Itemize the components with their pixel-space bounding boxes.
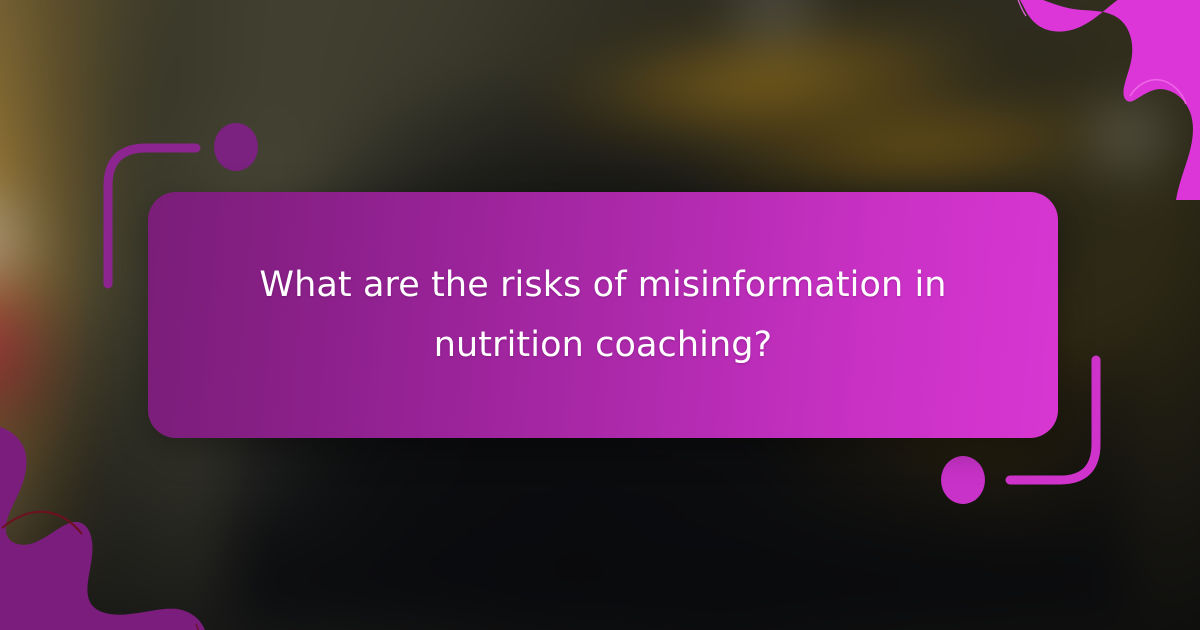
question-text: What are the risks of misinformation in … — [204, 255, 1002, 375]
og-image-canvas: What are the risks of misinformation in … — [0, 0, 1200, 630]
question-card: What are the risks of misinformation in … — [148, 192, 1058, 438]
